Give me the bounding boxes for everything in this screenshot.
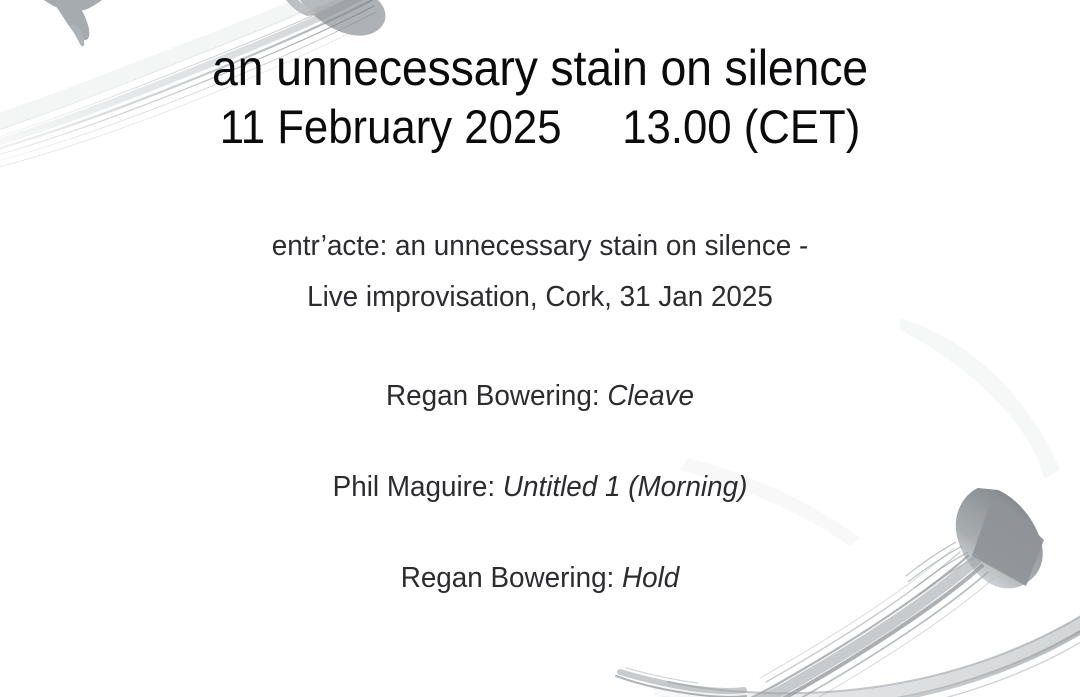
program-piece-3-performer: Regan Bowering: [401, 562, 622, 594]
program-intro-line-1: entr’acte: an unnecessary stain on silen… [22, 232, 1059, 261]
page-title: an unnecessary stain on silence [38, 40, 1042, 96]
poster-text-content: an unnecessary stain on silence 11 Febru… [0, 0, 1080, 697]
header-block: an unnecessary stain on silence 11 Febru… [0, 40, 1080, 155]
program-intro-line-2: Live improvisation, Cork, 31 Jan 2025 [22, 283, 1059, 312]
program-piece-3: Regan Bowering: Hold [22, 564, 1059, 593]
event-datetime: 11 February 2025 13.00 (CET) [38, 100, 1042, 155]
program-piece-1-work: Cleave [607, 380, 694, 412]
program-piece-2-work: Untitled 1 (Morning) [503, 471, 747, 503]
program-piece-2-performer: Phil Maguire: [333, 471, 503, 503]
program-piece-1: Regan Bowering: Cleave [22, 382, 1059, 411]
program-piece-1-performer: Regan Bowering: [386, 380, 607, 412]
program-piece-2: Phil Maguire: Untitled 1 (Morning) [22, 473, 1059, 502]
poster-canvas: an unnecessary stain on silence 11 Febru… [0, 0, 1080, 697]
program-piece-3-work: Hold [622, 562, 679, 594]
program-block: entr’acte: an unnecessary stain on silen… [0, 232, 1080, 593]
